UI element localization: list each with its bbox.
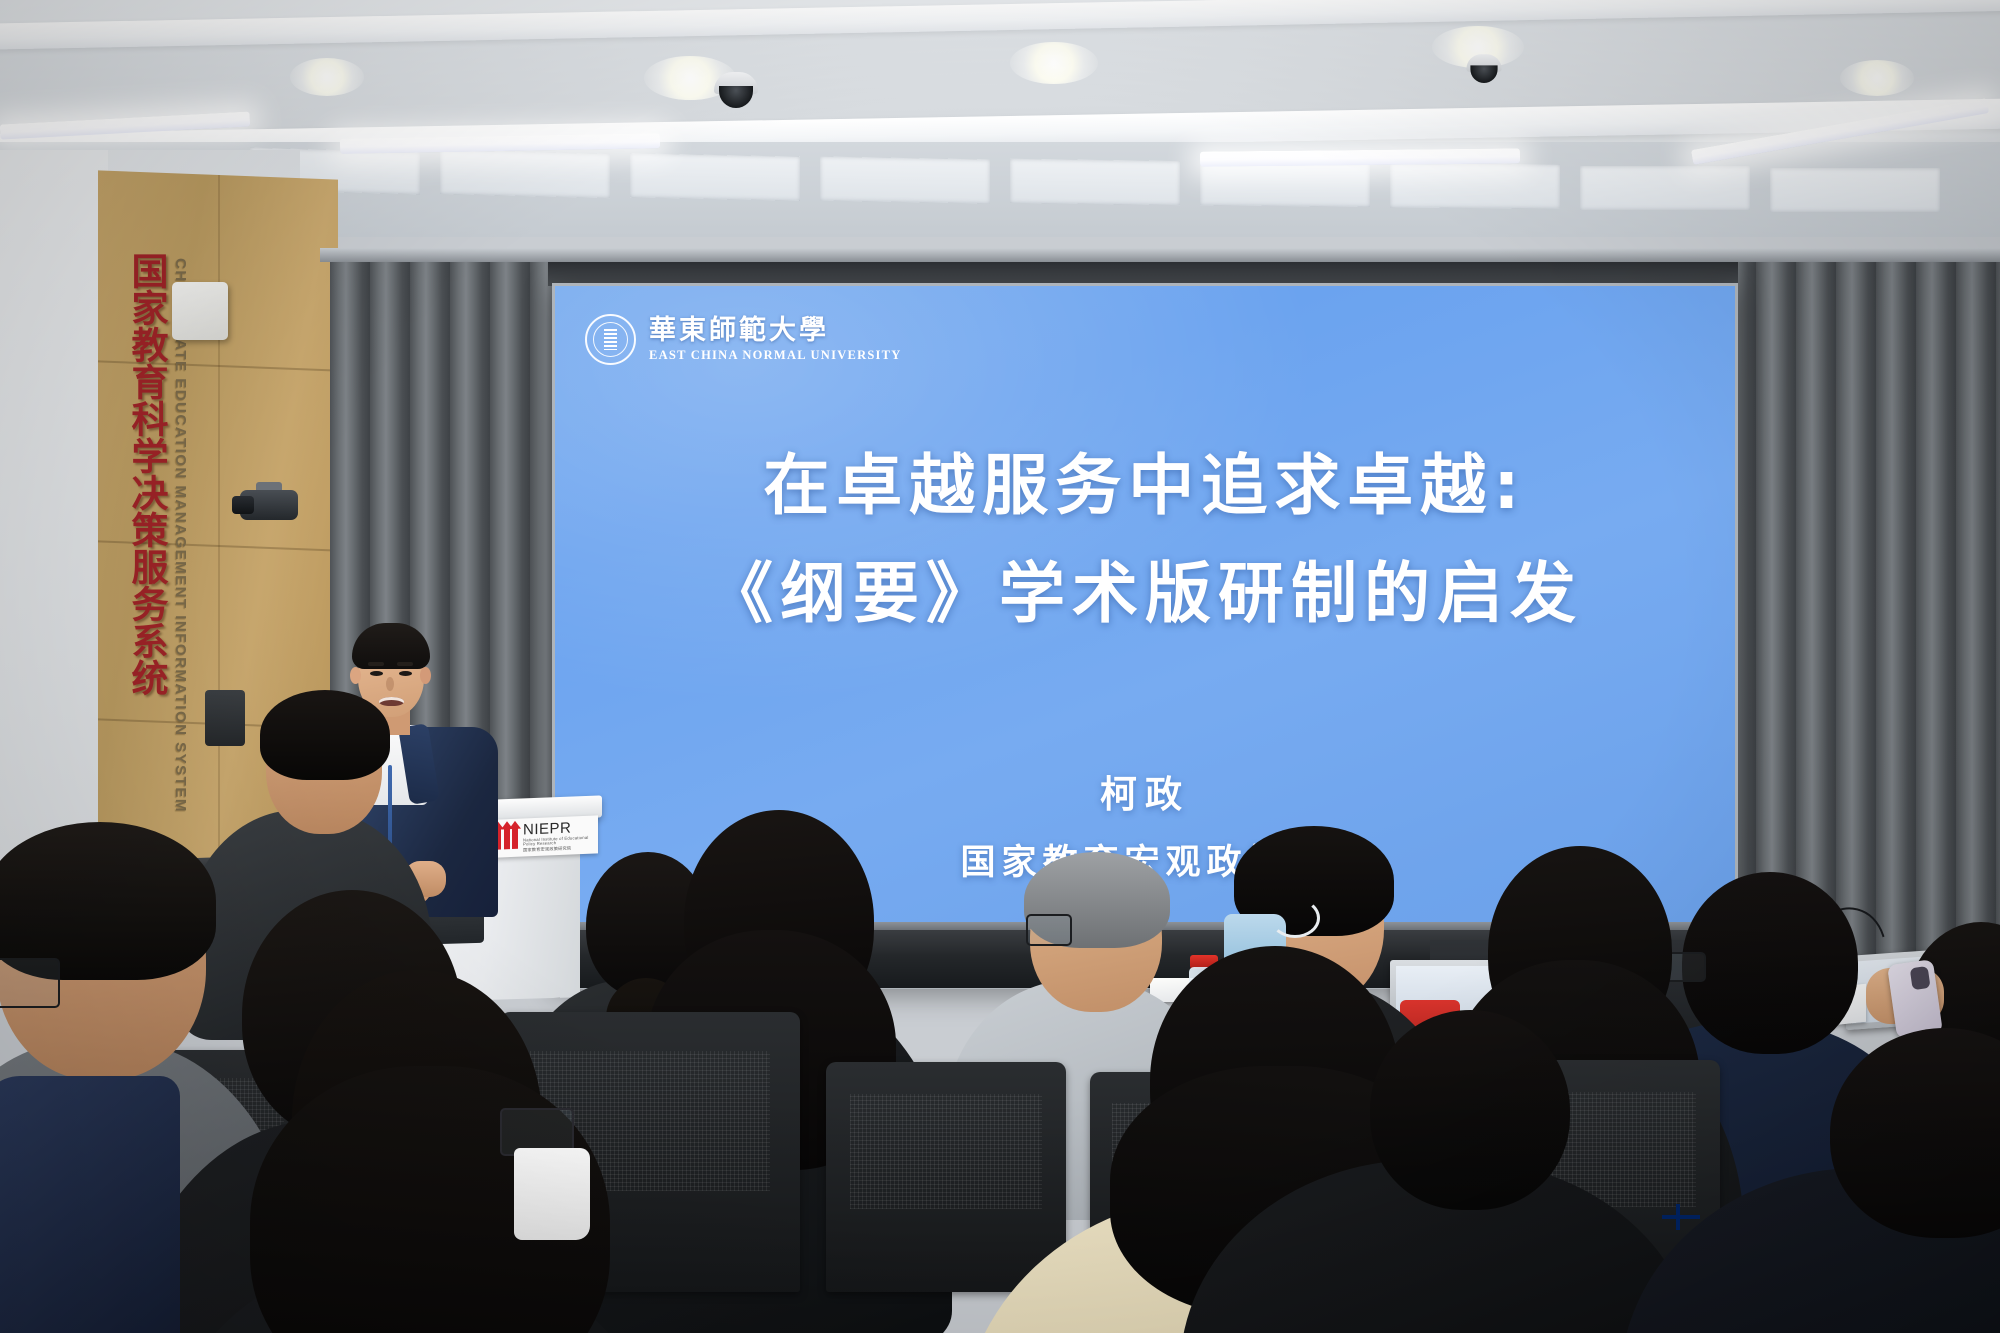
slide-title-line-1: 在卓越服务中追求卓越: [555,436,1735,536]
ecnu-seal-icon [585,314,636,365]
ecnu-logo: 華東師範大學 EAST CHINA NORMAL UNIVERSITY [585,314,902,365]
audience-person-foreground-left [0,1076,180,1333]
wall-sign-chinese: 国家教育科学决策服务系统 [112,252,170,696]
ceiling-coffer [630,153,800,201]
ptz-camera-icon [232,482,304,526]
ceiling-downlight [1010,42,1098,84]
wall-speaker-icon [172,282,228,340]
ceiling-downlight [1840,60,1914,96]
wall-sign-english: CHINA STATE EDUCATION MANAGEMENT INFORMA… [172,258,189,813]
ecnu-name-english: EAST CHINA NORMAL UNIVERSITY [649,348,902,363]
lecture-hall-scene: 国家教育科学决策服务系统 CHINA STATE EDUCATION MANAG… [0,0,2000,1333]
ceiling-coffer [1390,163,1560,208]
ceiling-coffer [1770,168,1940,212]
podium-subtitle-zh: 国家教育宏观政策研究院 [523,846,594,853]
ceiling-coffer [1200,161,1370,207]
ceiling-downlight [290,58,364,96]
slide-author: 柯政 [555,764,1735,818]
curtain-rail [320,248,2000,262]
ceiling-coffer [820,157,990,204]
left-wall-panel [0,150,108,850]
chair [826,1062,1066,1292]
ceiling-coffer [1010,159,1180,205]
ceiling-coffer [1580,166,1750,210]
wall-access-panel [205,690,245,746]
ceiling-coffer [440,150,610,198]
dome-camera-icon [1466,54,1501,72]
slide-title-line-2: 《纲要》学术版研制的启发 [555,544,1735,644]
ecnu-name-chinese: 華東師範大學 [649,317,902,344]
